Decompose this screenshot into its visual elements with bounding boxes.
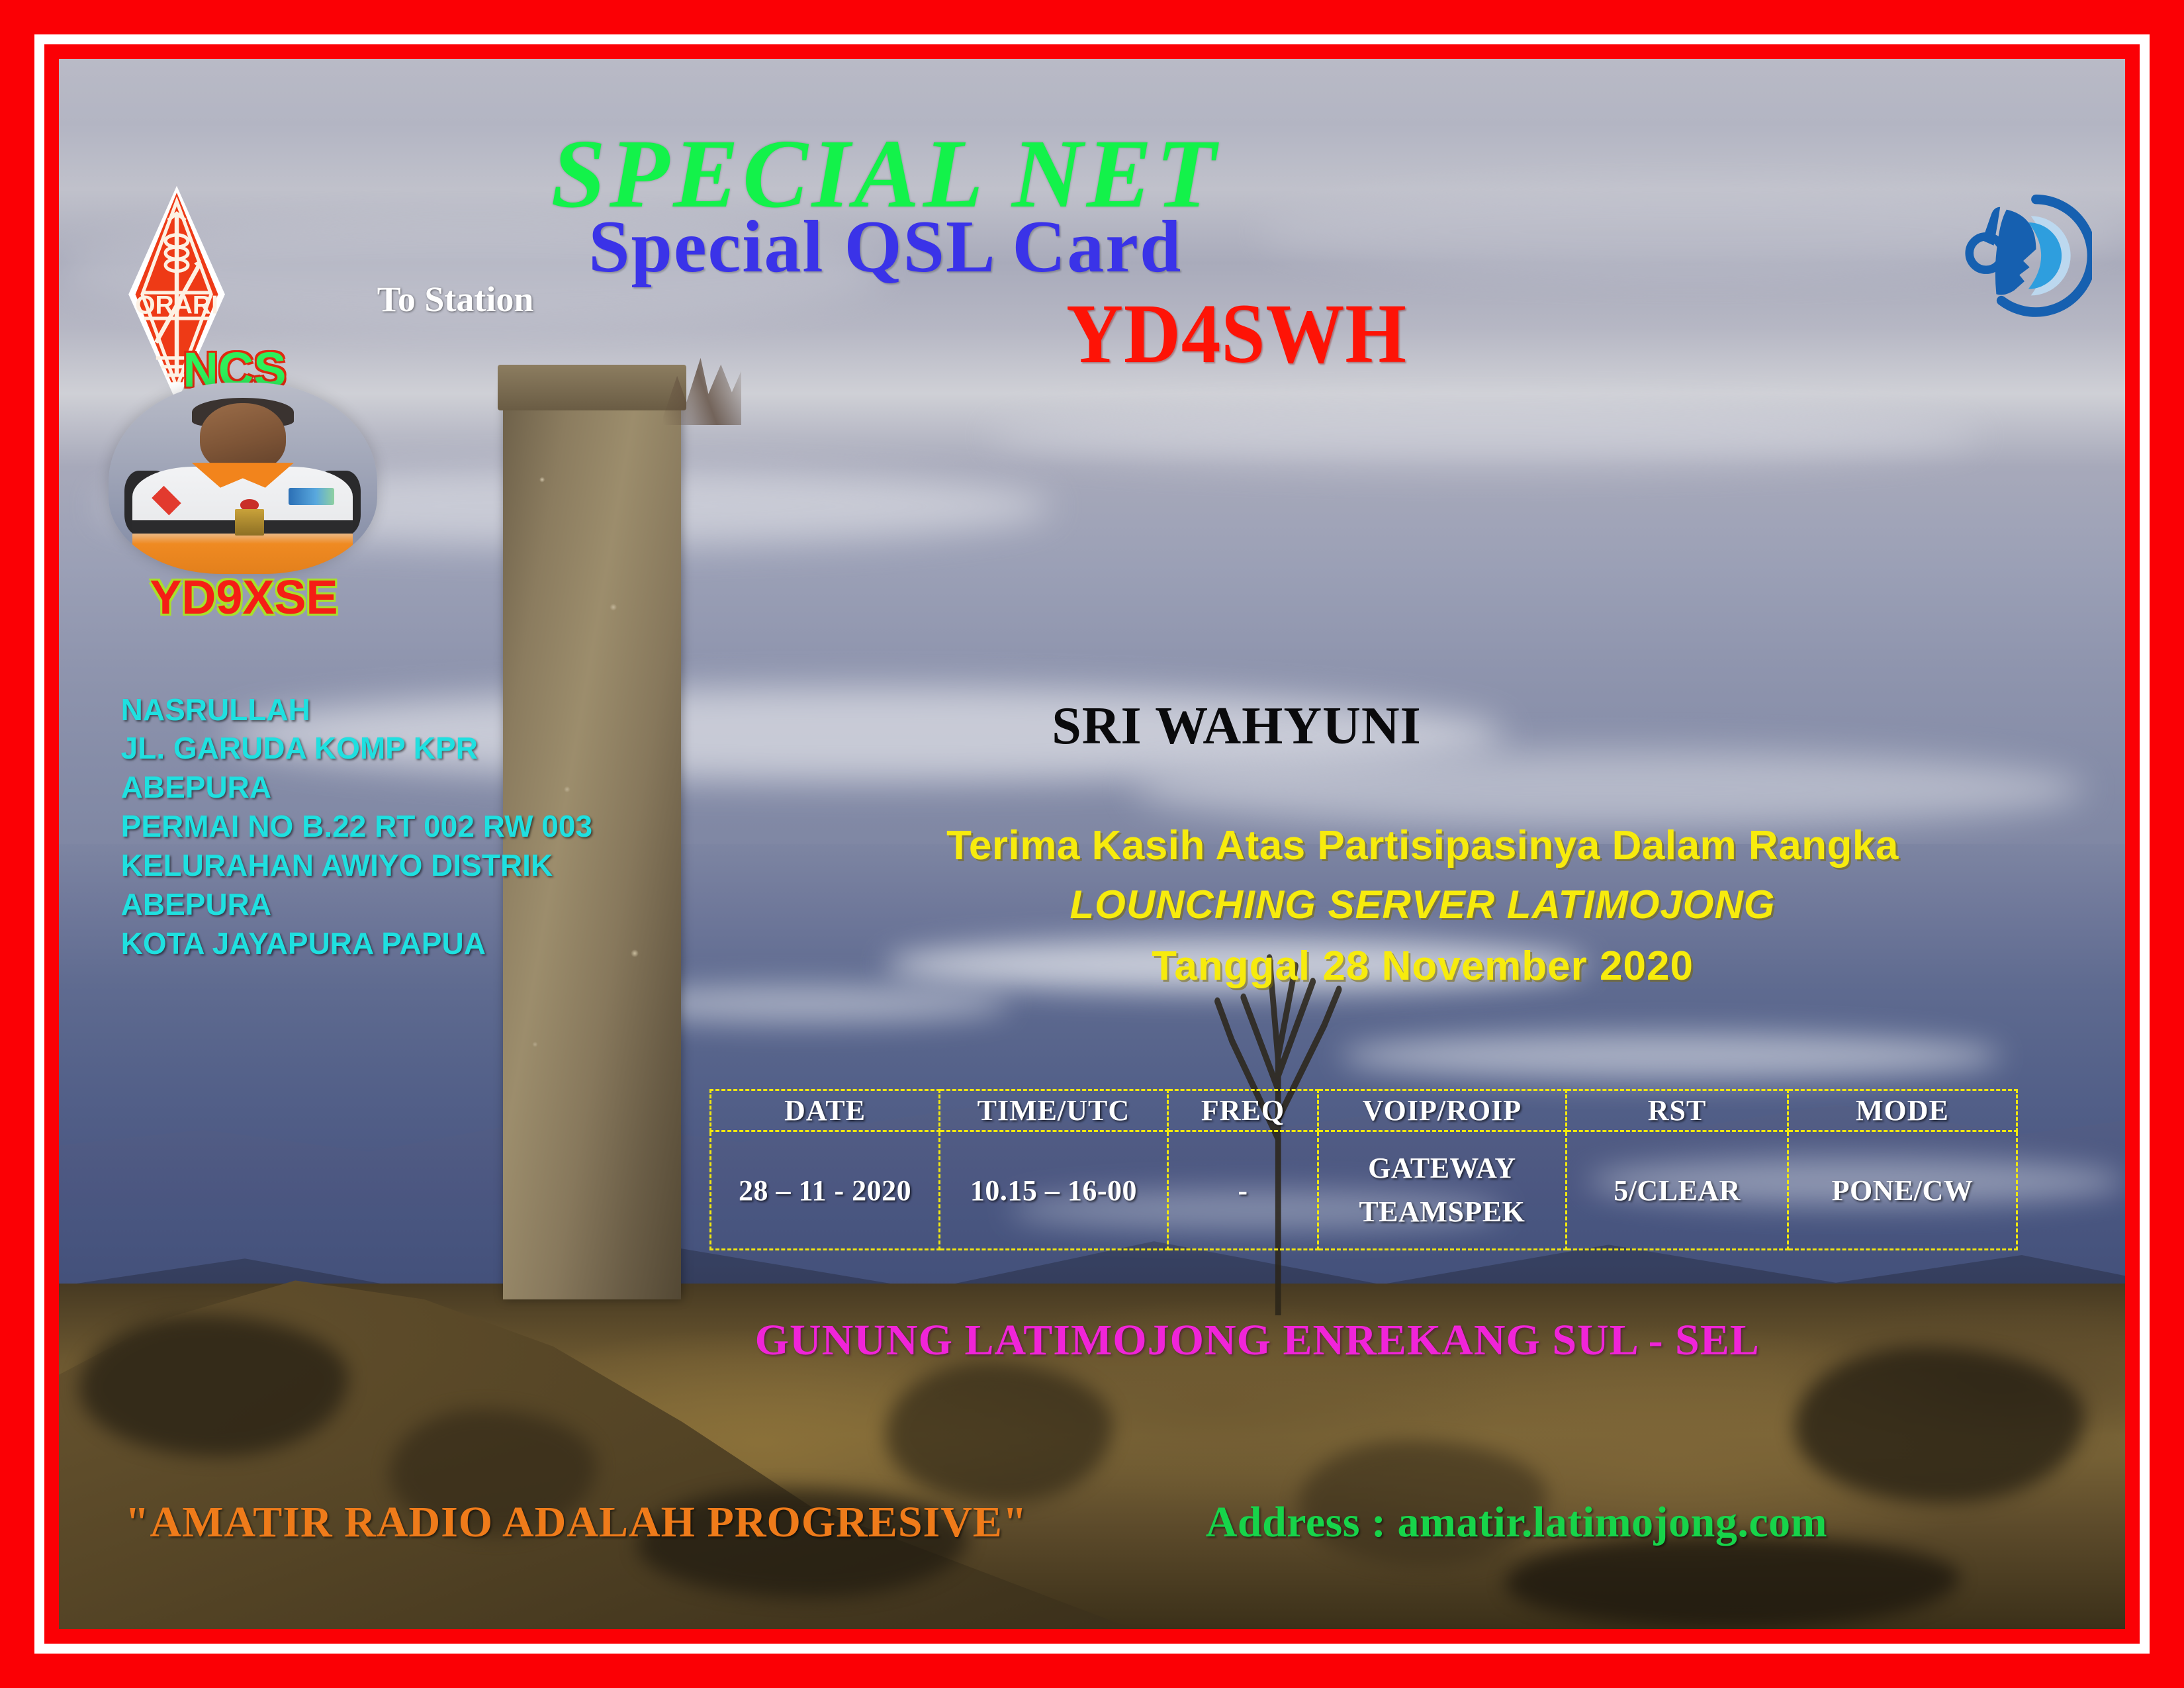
address-line: ABEPURA — [121, 768, 679, 807]
event-thanks-line: Terima Kasih Atas Partisipasinya Dalam R… — [741, 822, 2105, 869]
footer-web-address: Address : amatir.latimojong.com — [1206, 1497, 1827, 1548]
radio-operator-headset-logo — [1964, 109, 2093, 400]
qsl-card-border-gap: ORARI — [34, 34, 2150, 1654]
table-row: 28 – 11 - 2020 10.15 – 16-00 - GATEWAY T… — [711, 1131, 2017, 1250]
column-header-freq: FREQ — [1168, 1090, 1318, 1131]
address-line: JL. GARUDA KOMP KPR — [121, 729, 679, 768]
column-header-date: DATE — [711, 1090, 939, 1131]
address-line: ABEPURA — [121, 885, 679, 924]
page-subtitle-special-qsl-card: Special QSL Card — [265, 210, 1505, 284]
ncs-callsign: YD9XSE — [150, 571, 338, 625]
orari-logo-text: ORARI — [135, 291, 218, 319]
cell-voip-line1: GATEWAY — [1320, 1147, 1564, 1190]
address-line: KOTA JAYAPURA PAPUA — [121, 924, 679, 963]
event-title-line: LOUNCHING SERVER LATIMOJONG — [741, 882, 2105, 927]
address-line: PERMAI NO B.22 RT 002 RW 003 — [121, 807, 679, 846]
location-line: GUNUNG LATIMOJONG ENREKANG SUL - SEL — [637, 1315, 1877, 1366]
station-callsign: YD4SWH — [852, 291, 1621, 376]
avatar-id-card-icon — [235, 509, 265, 536]
qsl-card-inner-border: ORARI — [44, 44, 2140, 1644]
cell-rst: 5/CLEAR — [1566, 1131, 1788, 1250]
cell-voip-roip: GATEWAY TEAMSPEK — [1318, 1131, 1566, 1250]
card-content-layer: ORARI — [59, 59, 2125, 1629]
address-line: NASRULLAH — [121, 690, 679, 729]
operator-name: SRI WAHYUNI — [761, 700, 1711, 753]
to-station-label: To Station — [377, 279, 534, 320]
qso-log-table: DATE TIME/UTC FREQ VOIP/ROIP RST MODE 28… — [709, 1089, 2017, 1250]
column-header-mode: MODE — [1788, 1090, 2017, 1131]
cell-mode: PONE/CW — [1788, 1131, 2017, 1250]
cell-date: 28 – 11 - 2020 — [711, 1131, 939, 1250]
column-header-rst: RST — [1566, 1090, 1788, 1131]
column-header-time-utc: TIME/UTC — [939, 1090, 1167, 1131]
address-line: KELURAHAN AWIYO DISTRIK — [121, 846, 679, 885]
cell-voip-line2: TEAMSPEK — [1320, 1190, 1564, 1234]
column-header-voip-roip: VOIP/ROIP — [1318, 1090, 1566, 1131]
cell-freq: - — [1168, 1131, 1318, 1250]
table-header-row: DATE TIME/UTC FREQ VOIP/ROIP RST MODE — [711, 1090, 2017, 1131]
avatar-face — [200, 403, 286, 472]
qsl-card-photo-background: ORARI — [59, 59, 2125, 1629]
ncs-operator-avatar — [109, 383, 377, 574]
mailing-address-block: NASRULLAH JL. GARUDA KOMP KPR ABEPURA PE… — [121, 690, 679, 963]
footer-motto: "AMATIR RADIO ADALAH PROGRESIVE" — [125, 1497, 1028, 1548]
qsl-card-outer-border: ORARI — [0, 0, 2184, 1688]
cell-time: 10.15 – 16-00 — [939, 1131, 1167, 1250]
event-date-line: Tanggal 28 November 2020 — [741, 943, 2105, 990]
avatar-shoulder-patch-icon — [289, 488, 334, 505]
